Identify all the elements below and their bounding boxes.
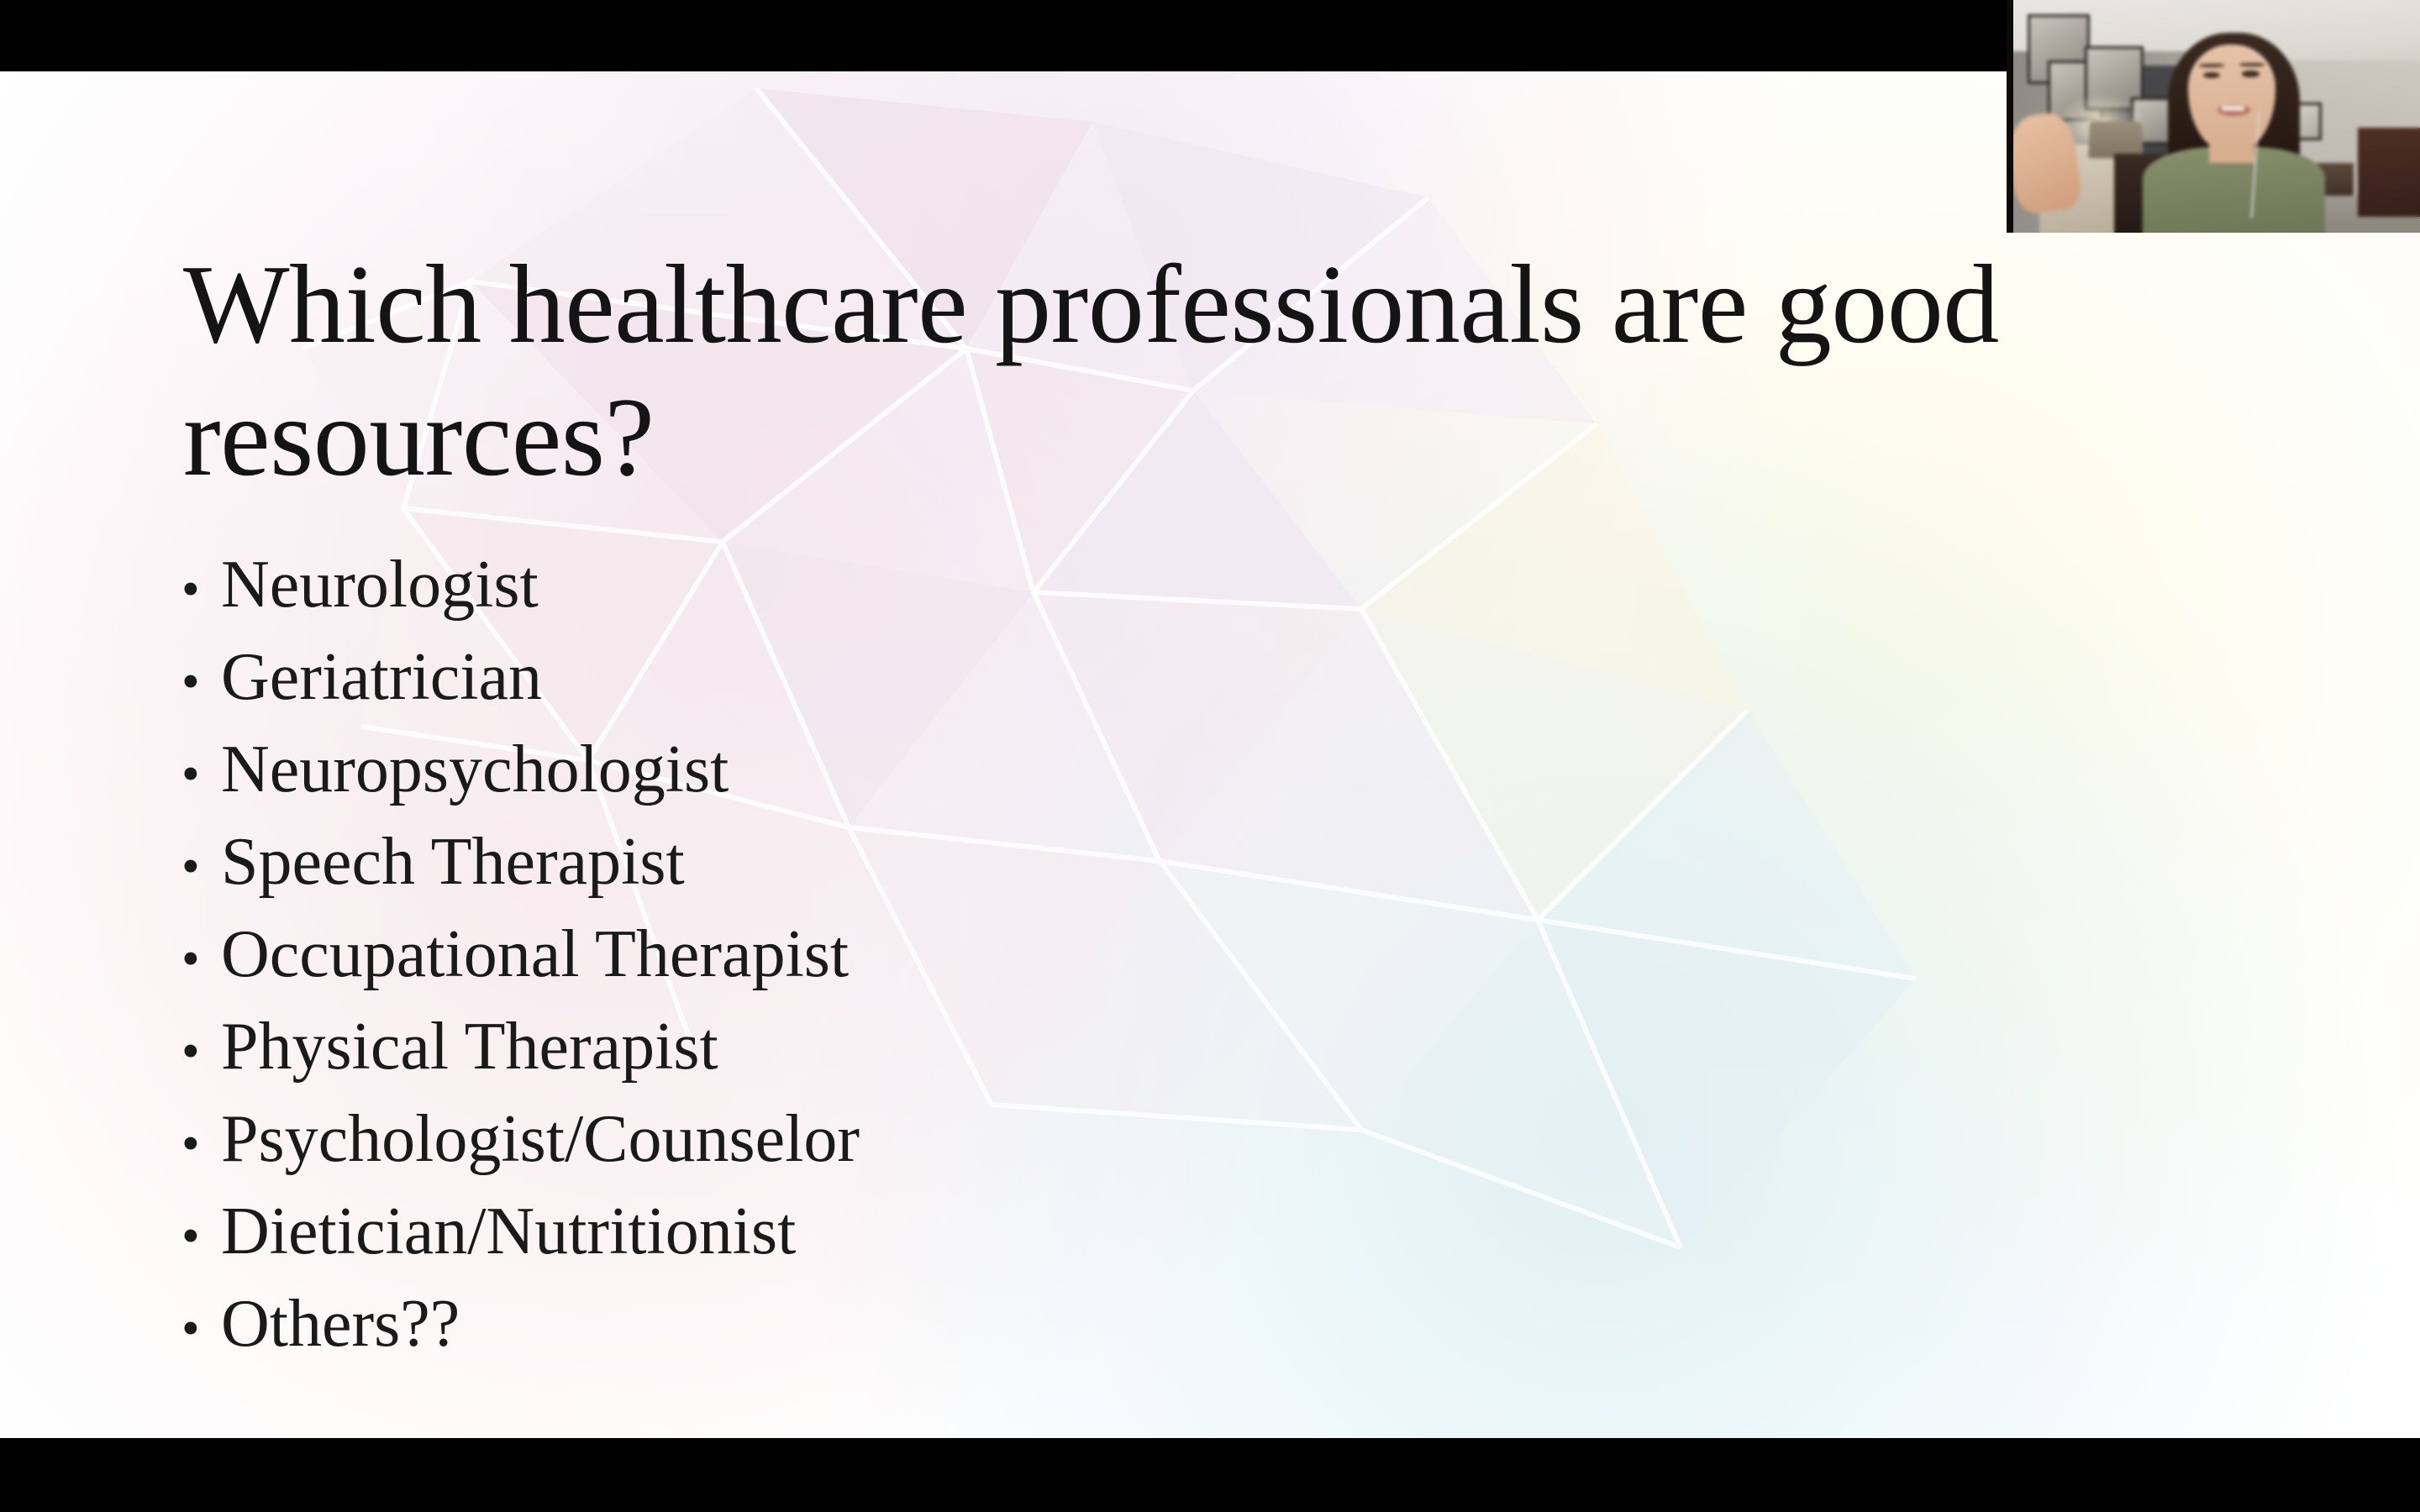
- list-item: • Neurologist: [181, 538, 860, 631]
- bullet-dot-icon: •: [181, 821, 221, 913]
- list-item-label: Neurologist: [221, 538, 539, 631]
- list-item-label: Occupational Therapist: [221, 908, 849, 1000]
- bullet-dot-icon: •: [181, 728, 221, 821]
- video-blur-layer: [2007, 0, 2420, 233]
- slide-title: Which healthcare professionals are good …: [183, 238, 2183, 503]
- list-item: • Psychologist/Counselor: [181, 1093, 860, 1185]
- slide-bullet-list: • Neurologist • Geriatrician • Neuropsyc…: [181, 538, 860, 1370]
- bullet-dot-icon: •: [181, 1283, 221, 1375]
- screen-root: Which healthcare professionals are good …: [0, 0, 2420, 1512]
- bullet-dot-icon: •: [181, 636, 221, 728]
- list-item: • Geriatrician: [181, 631, 860, 723]
- bullet-dot-icon: •: [181, 913, 221, 1005]
- list-item: • Occupational Therapist: [181, 908, 860, 1000]
- list-item: • Neuropsychologist: [181, 723, 860, 816]
- list-item-label: Geriatrician: [221, 631, 542, 723]
- list-item: • Dietician/Nutritionist: [181, 1185, 860, 1278]
- list-item-label: Psychologist/Counselor: [221, 1093, 860, 1185]
- video-left-edge: [2007, 0, 2013, 233]
- list-item: • Physical Therapist: [181, 1000, 860, 1093]
- bullet-dot-icon: •: [181, 1005, 221, 1098]
- list-item-label: Speech Therapist: [221, 816, 685, 908]
- letterbox-bar-bottom: [0, 1438, 2420, 1512]
- list-item-label: Others??: [221, 1278, 460, 1370]
- list-item-label: Physical Therapist: [221, 1000, 718, 1093]
- list-item: • Others??: [181, 1278, 860, 1370]
- bullet-dot-icon: •: [181, 543, 221, 636]
- bullet-dot-icon: •: [181, 1098, 221, 1190]
- presentation-slide: Which healthcare professionals are good …: [0, 71, 2420, 1438]
- list-item-label: Dietician/Nutritionist: [221, 1185, 796, 1278]
- bullet-dot-icon: •: [181, 1190, 221, 1283]
- list-item: • Speech Therapist: [181, 816, 860, 908]
- presenter-video-overlay[interactable]: [2007, 0, 2420, 233]
- list-item-label: Neuropsychologist: [221, 723, 729, 816]
